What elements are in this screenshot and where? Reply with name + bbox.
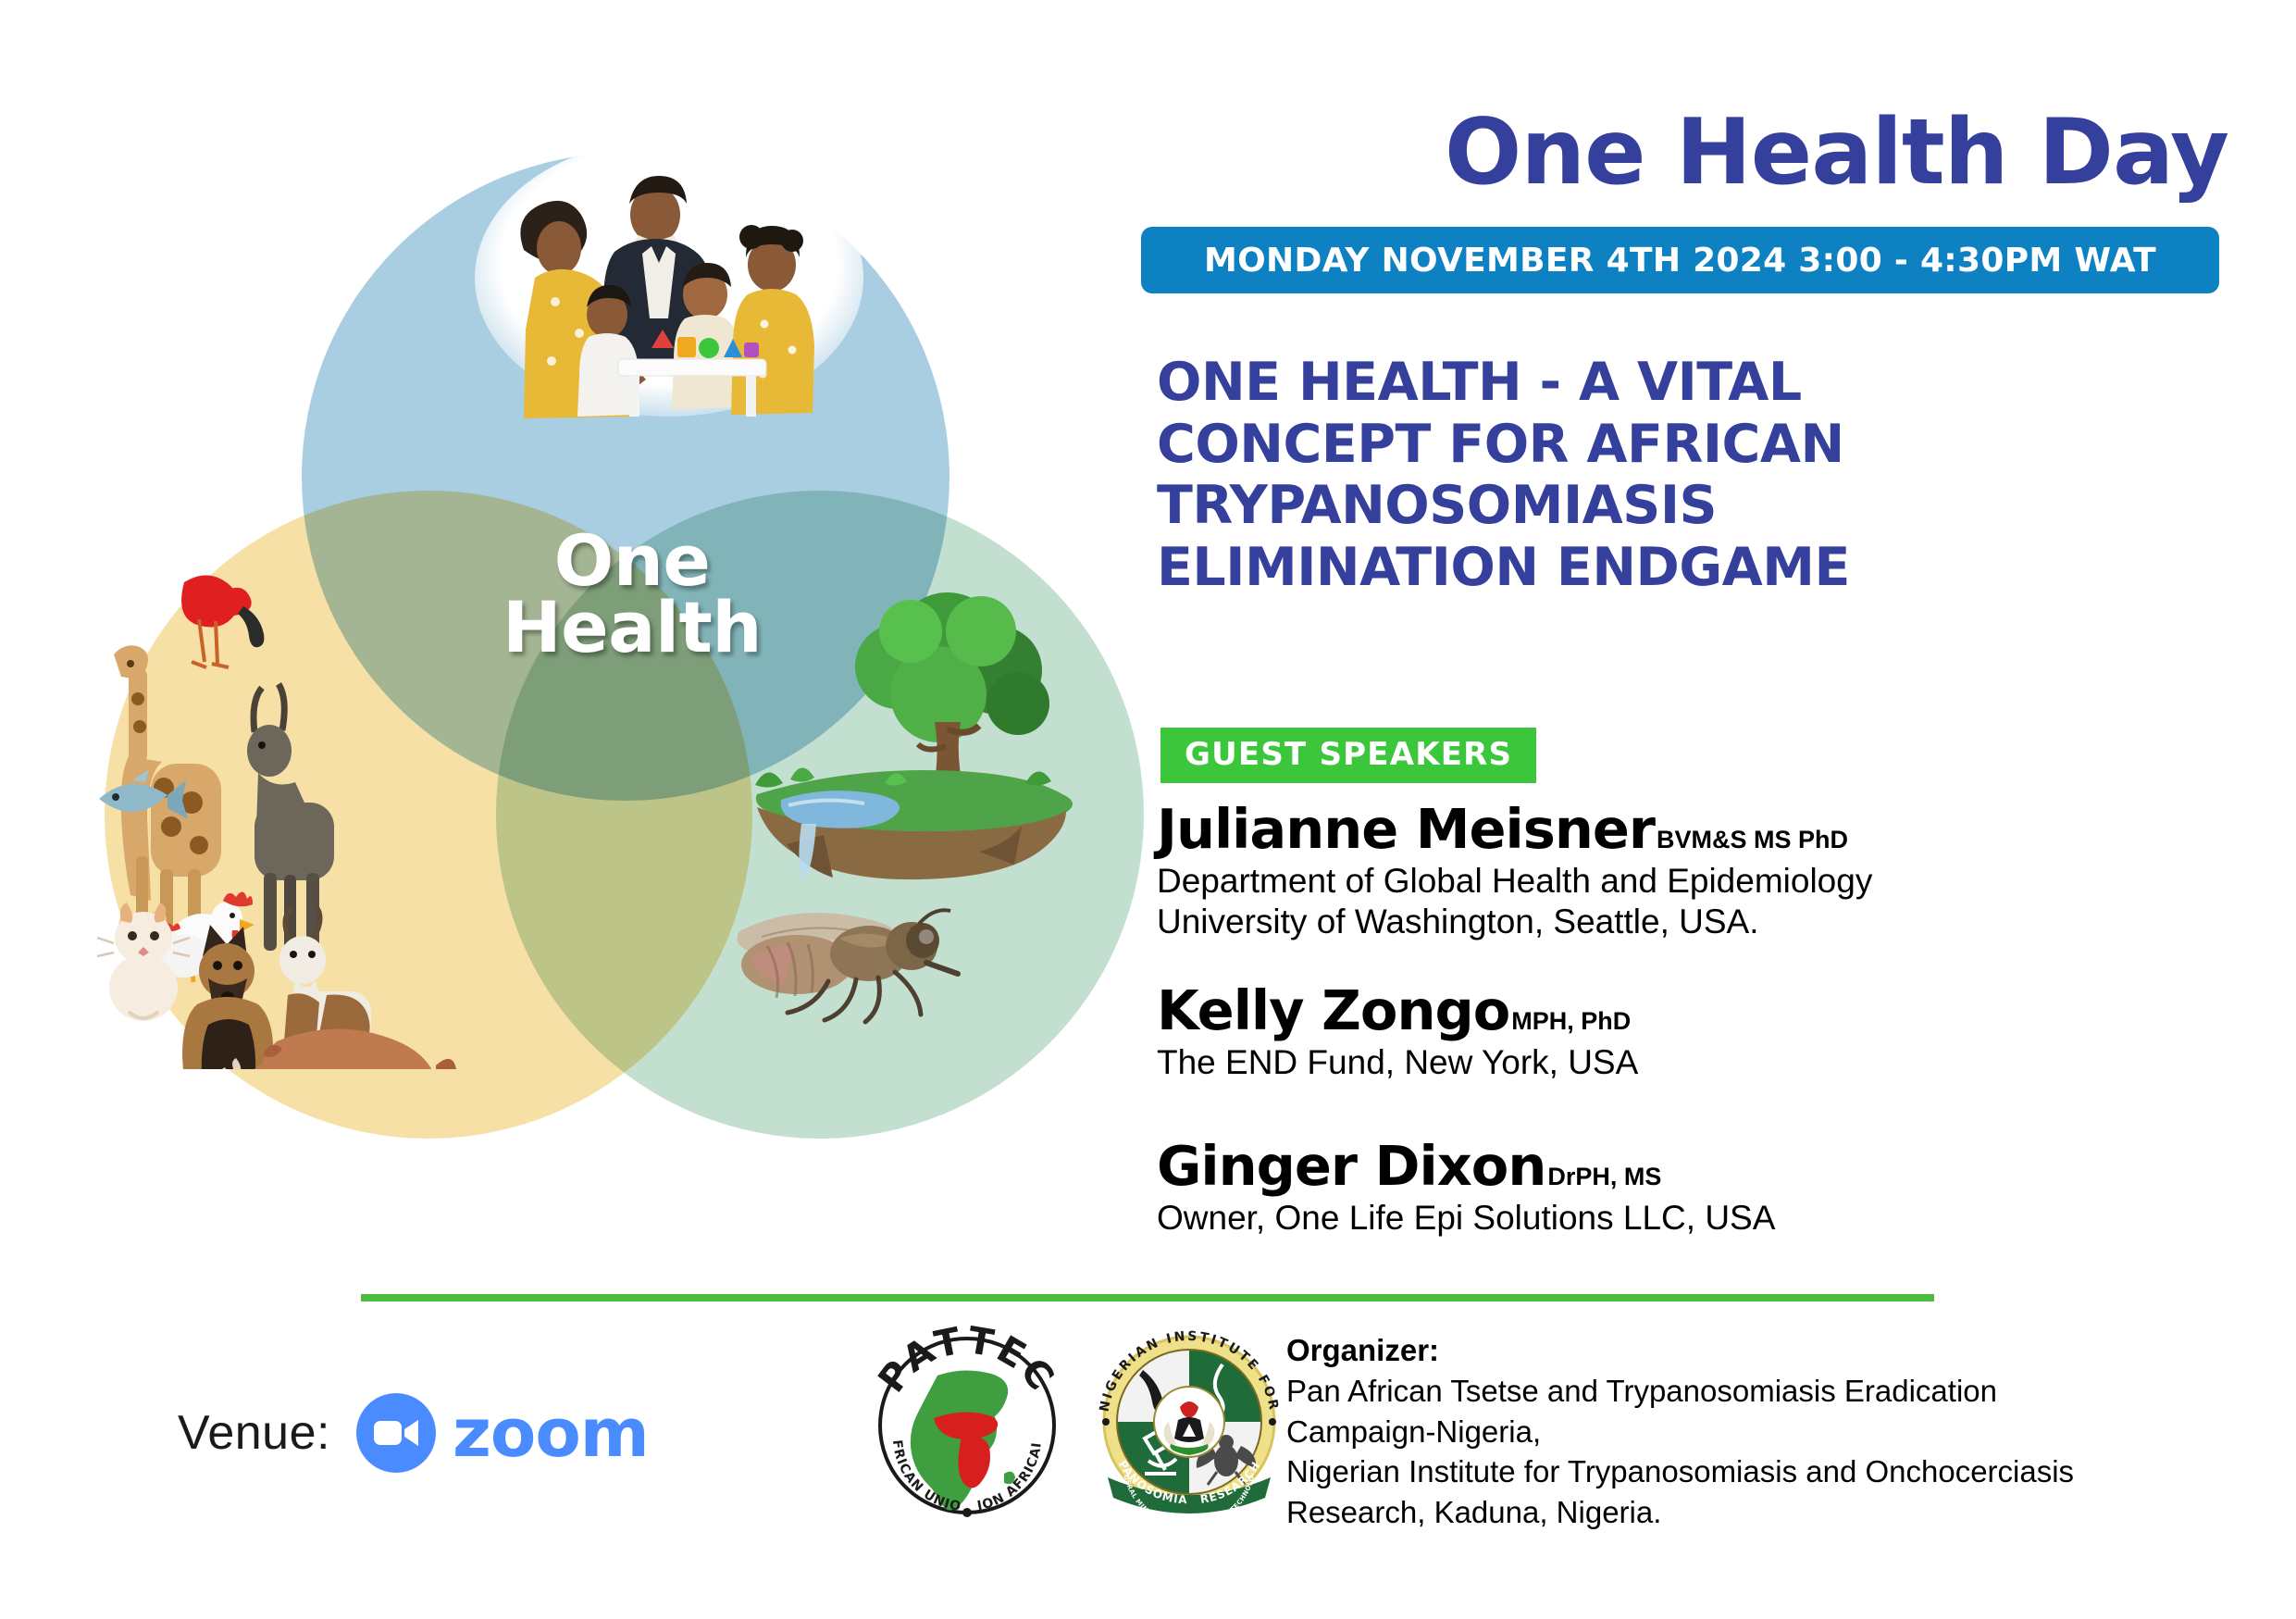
page-title: One Health Day [1164,100,2228,205]
venue-label: Venue: [178,1405,330,1461]
event-info-column: One Health Day MONDAY NOVEMBER 4TH 2024 … [1140,0,2241,1240]
pattec-logo: PATTEC AFRICAN UNION UNION AFRICAINE [865,1322,1069,1526]
guest-speakers-label: GUEST SPEAKERS [1185,736,1512,773]
tsetse-fly-illustration [697,861,974,1046]
zoom-wordmark: zoom [453,1400,649,1466]
zoom-logo[interactable]: zoom [356,1393,649,1473]
venn-center-line1: One [401,528,863,594]
date-time-banner: MONDAY NOVEMBER 4TH 2024 3:00 - 4:30PM W… [1141,227,2219,293]
venn-center-label: One Health [401,528,863,661]
speaker-entry: Ginger DixonDrPH, MS Owner, One Life Epi… [1157,1139,2184,1239]
nitr-logo: NIGERIAN INSTITUTE FOR TRYPANOSOMIASIS R… [1091,1322,1287,1526]
speaker-credentials: MPH, PhD [1511,1007,1631,1035]
speaker-credentials: DrPH, MS [1547,1163,1661,1190]
section-divider [361,1294,1934,1301]
speaker-affiliation: Owner, One Life Epi Solutions LLC, USA [1157,1198,2184,1239]
venue-block: Venue: zoom [178,1393,649,1473]
speaker-affiliation: The END Fund, New York, USA [1157,1042,2184,1083]
speaker-entry: Kelly ZongoMPH, PhD The END Fund, New Yo… [1157,983,2184,1083]
speaker-credentials: BVM&S MS PhD [1657,826,1848,853]
date-time-text: MONDAY NOVEMBER 4TH 2024 3:00 - 4:30PM W… [1204,242,2156,280]
video-camera-icon [356,1393,436,1473]
organizer-text: Pan African Tsetse and Trypanosomiasis E… [1286,1371,2230,1532]
one-health-venn-diagram: One Health [81,130,1109,1240]
organizer-logos: PATTEC AFRICAN UNION UNION AFRICAINE [865,1322,1287,1526]
family-illustration [470,139,868,426]
organizer-block: Organizer: Pan African Tsetse and Trypan… [1286,1333,2230,1532]
speaker-entry: Julianne MeisnerBVM&S MS PhD Department … [1157,802,2184,941]
speaker-name: Julianne Meisner [1157,797,1655,861]
speaker-affiliation: Department of Global Health and Epidemio… [1157,861,2184,941]
tree-icon [855,592,1049,802]
venn-center-line2: Health [401,594,863,661]
speaker-name-row: Julianne MeisnerBVM&S MS PhD [1157,802,2184,856]
ibis-icon [181,575,264,667]
organizer-label: Organizer: [1286,1333,2230,1368]
event-headline: ONE HEALTH - A VITAL CONCEPT FOR AFRICAN… [1157,352,2082,599]
speaker-name-row: Kelly ZongoMPH, PhD [1157,983,2184,1038]
speaker-name: Ginger Dixon [1157,1134,1545,1198]
speaker-name: Kelly Zongo [1157,978,1509,1042]
guest-speakers-badge: GUEST SPEAKERS [1160,728,1536,783]
speaker-name-row: Ginger DixonDrPH, MS [1157,1139,2184,1193]
